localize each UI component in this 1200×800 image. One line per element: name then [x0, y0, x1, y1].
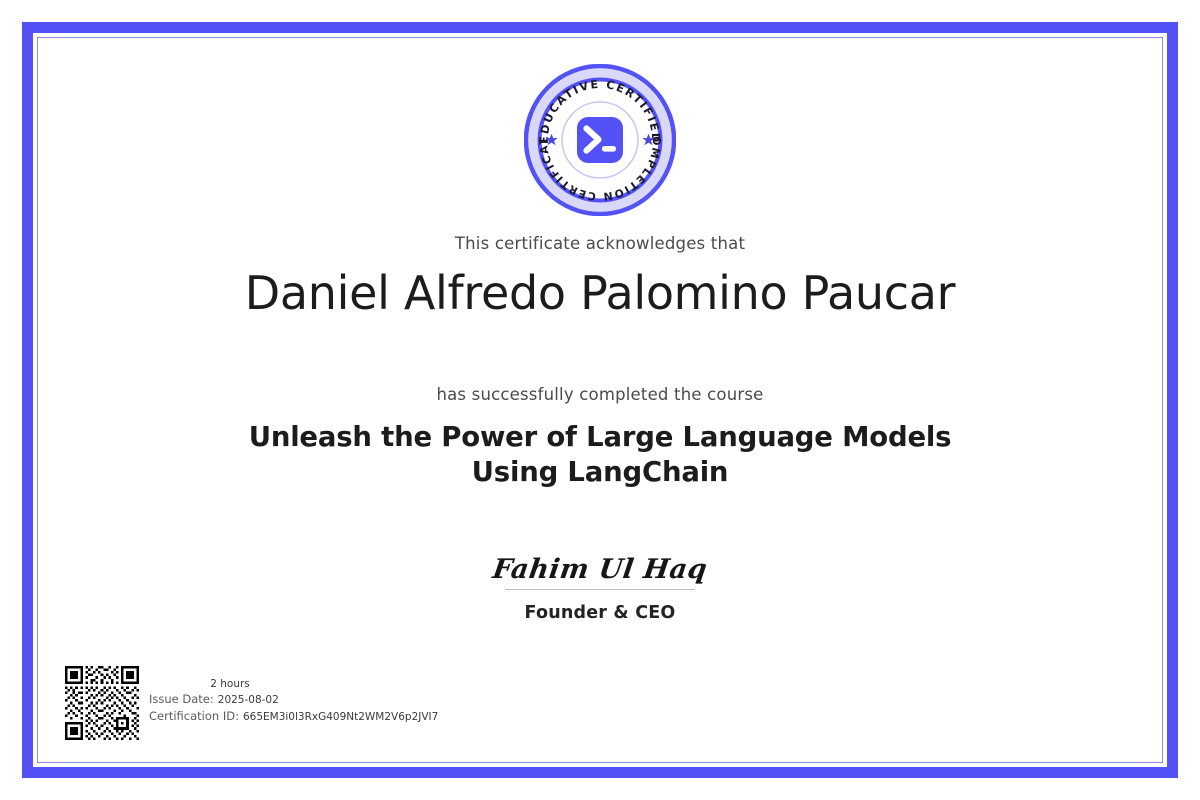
course-title-line-2: Using LangChain — [38, 455, 1162, 490]
signature-name: Fahim Ul Haq — [491, 556, 709, 583]
certificate-seal: EDUCATIVE CERTIFIED COMPLETION CERTIFICA… — [524, 64, 676, 216]
completion-line: has successfully completed the course — [38, 385, 1162, 404]
issue-date-label: Issue Date: — [149, 692, 214, 706]
certificate-footer: 2 hours Issue Date: 2025-08-02 Certifica… — [65, 666, 449, 740]
issue-date-value: 2025-08-02 — [218, 694, 279, 706]
certificate-seal-container: EDUCATIVE CERTIFIED COMPLETION CERTIFICA… — [38, 64, 1162, 216]
signature-block: Fahim Ul Haq Founder & CEO — [38, 556, 1162, 623]
duration-row: 2 hours — [155, 672, 305, 691]
qr-code[interactable] — [65, 666, 139, 740]
acknowledgement-line: This certificate acknowledges that — [38, 234, 1162, 253]
signature-role: Founder & CEO — [525, 603, 676, 623]
certificate-metadata: 2 hours Issue Date: 2025-08-02 Certifica… — [149, 666, 449, 726]
signature-rule — [505, 589, 695, 590]
course-title: Unleash the Power of Large Language Mode… — [38, 420, 1162, 490]
certification-id-value: 665EM3i0l3RxG409Nt2WM2V6p2JVI7 — [243, 711, 438, 723]
terminal-prompt-icon — [577, 117, 623, 163]
course-title-line-1: Unleash the Power of Large Language Mode… — [38, 420, 1162, 455]
certification-id-label: Certification ID: — [149, 709, 239, 723]
issue-date-row: Issue Date: 2025-08-02 — [149, 692, 449, 706]
certificate-content: EDUCATIVE CERTIFIED COMPLETION CERTIFICA… — [38, 38, 1162, 762]
certificate-page: EDUCATIVE CERTIFIED COMPLETION CERTIFICA… — [0, 0, 1200, 800]
certification-id-row: Certification ID: 665EM3i0l3RxG409Nt2WM2… — [149, 709, 449, 723]
duration-value: 2 hours — [210, 678, 250, 690]
recipient-name: Daniel Alfredo Palomino Paucar — [38, 266, 1162, 320]
